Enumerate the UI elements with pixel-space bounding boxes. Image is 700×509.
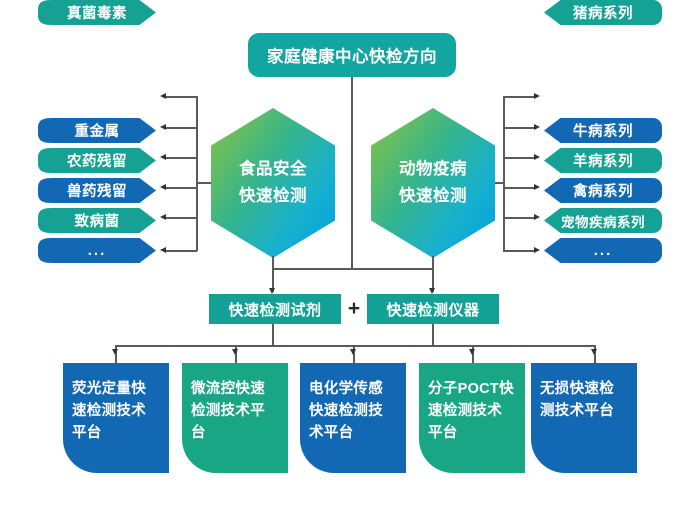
right-tag-3[interactable]: 禽病系列 [544,178,662,203]
right-tag-label: 禽病系列 [573,180,633,201]
connector-right-branch-1 [503,127,535,129]
connector-left-branch-1 [165,127,197,129]
arrow-left-1 [160,124,166,130]
reagent-box[interactable]: 快速检测试剂 [209,294,341,324]
platform-card-2[interactable]: 电化学传感快速检测技术平台 [300,363,406,473]
connector-right-branch-4 [503,217,535,219]
left-tag-1[interactable]: 重金属 [38,118,156,143]
right-tag-5[interactable]: ... [544,238,662,263]
arrow-left-5 [160,247,166,253]
arrow-right-1 [534,124,540,130]
diagram-canvas: 家庭健康中心快检方向 真菌毒素 重金属 农药残留 兽药残留 致病菌 ... 猪病… [0,0,700,509]
hexagon-animal-disease[interactable]: 动物疫病 快速检测 [371,108,495,258]
reagent-label: 快速检测试剂 [228,299,321,320]
platform-card-0[interactable]: 荧光定量快速检测技术平台 [63,363,169,473]
connector-left-branch-4 [165,217,197,219]
right-tag-1[interactable]: 牛病系列 [544,118,662,143]
arrow-right-2 [534,154,540,160]
arrow-right-5 [534,247,540,253]
connector-right-bus [503,96,505,251]
arrow-down-card-4 [591,349,597,355]
connector-left-bus [196,96,198,251]
arrow-left-0 [160,93,166,99]
platform-label: 无损快速检测技术平台 [540,381,614,419]
right-tag-2[interactable]: 羊病系列 [544,148,662,173]
left-tag-label: 农药残留 [67,150,127,171]
left-tag-2[interactable]: 农药残留 [38,148,156,173]
left-tag-label: 真菌毒素 [67,2,127,23]
arrow-right-4 [534,214,540,220]
connector-bottom-bus [115,345,595,347]
left-tag-label: ... [88,242,107,259]
connector-right-branch-2 [503,157,535,159]
right-tag-4[interactable]: 宠物疾病系列 [544,208,662,233]
left-tag-label: 重金属 [75,120,120,141]
right-tag-label: 羊病系列 [573,150,633,171]
platform-card-3[interactable]: 分子POCT快速检测技术平台 [419,363,525,473]
left-tag-3[interactable]: 兽药残留 [38,178,156,203]
instrument-label: 快速检测仪器 [386,299,479,320]
connector-hex1-stem [272,256,274,292]
connector-reagent-drop [272,324,274,346]
arrow-down-card-2 [350,349,356,355]
hexagon-label-line1: 动物疫病 [399,156,467,183]
arrow-down-card-0 [112,349,118,355]
hexagon-label-line1: 食品安全 [239,156,307,183]
right-tag-label: 牛病系列 [573,120,633,141]
arrow-right-0 [534,93,540,99]
right-tag-0[interactable]: 猪病系列 [544,0,662,25]
diagram-title: 家庭健康中心快检方向 [248,33,456,77]
connector-hex2-stem [432,256,434,292]
instrument-box[interactable]: 快速检测仪器 [367,294,499,324]
arrow-right-3 [534,184,540,190]
left-tag-5[interactable]: ... [38,238,156,263]
connector-left-branch-2 [165,157,197,159]
connector-left-branch-5 [165,250,197,252]
connector-right-branch-3 [503,187,535,189]
connector-instrument-drop [432,324,434,346]
platform-label: 微流控快速检测技术平台 [191,381,265,441]
connector-right-branch-0 [503,96,535,98]
left-tag-label: 致病菌 [75,210,120,231]
left-tag-4[interactable]: 致病菌 [38,208,156,233]
platform-label: 分子POCT快速检测技术平台 [428,381,514,441]
connector-title-stem [351,77,353,269]
hexagon-label-line2: 快速检测 [399,183,467,210]
arrow-down-card-1 [232,349,238,355]
platform-card-1[interactable]: 微流控快速检测技术平台 [182,363,288,473]
plus-operator: + [341,294,367,324]
arrow-left-4 [160,214,166,220]
arrow-down-card-3 [469,349,475,355]
right-tag-label: ... [594,242,613,259]
connector-right-branch-5 [503,250,535,252]
connector-left-to-hexagon [196,182,212,184]
right-tag-label: 宠物疾病系列 [561,211,645,231]
left-tag-0[interactable]: 真菌毒素 [38,0,156,25]
left-tag-label: 兽药残留 [67,180,127,201]
connector-left-branch-0 [165,96,197,98]
hexagon-food-safety[interactable]: 食品安全 快速检测 [211,108,335,258]
right-tag-label: 猪病系列 [573,2,633,23]
connector-hex-bus [272,268,433,270]
connector-left-branch-3 [165,187,197,189]
hexagon-label-line2: 快速检测 [239,183,307,210]
arrow-left-3 [160,184,166,190]
platform-card-4[interactable]: 无损快速检测技术平台 [531,363,637,473]
platform-label: 电化学传感快速检测技术平台 [309,381,383,441]
platform-label: 荧光定量快速检测技术平台 [72,381,146,441]
arrow-left-2 [160,154,166,160]
